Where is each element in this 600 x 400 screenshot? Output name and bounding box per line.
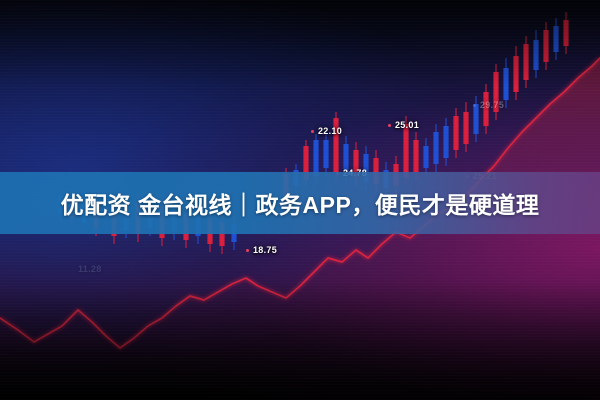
price-label: 25.01 xyxy=(388,120,419,130)
price-label-value: 11.28 xyxy=(78,264,102,274)
price-label: 18.75 xyxy=(246,245,277,255)
price-label: 22.10 xyxy=(311,126,342,136)
candle-body xyxy=(533,40,538,70)
price-marker-dot xyxy=(311,130,314,133)
candle-body xyxy=(413,140,418,172)
price-marker-dot xyxy=(473,104,476,107)
candle-body xyxy=(553,26,558,52)
candle-body xyxy=(443,126,448,158)
price-label-value: 25.01 xyxy=(395,120,419,130)
price-label: 29.75 xyxy=(473,100,504,110)
price-marker-dot xyxy=(246,249,249,252)
price-label-value: 22.10 xyxy=(318,126,342,136)
headline-banner: 优配资 金台视线｜政务APP，便民才是硬道理 xyxy=(0,172,600,234)
candle-body xyxy=(453,116,458,150)
price-marker-dot xyxy=(388,124,391,127)
candle-body xyxy=(503,68,508,100)
candle-body xyxy=(563,20,568,46)
banner-title: 优配资 金台视线｜政务APP，便民才是硬道理 xyxy=(61,186,540,220)
candle-body xyxy=(423,146,428,168)
candle-body xyxy=(323,140,328,168)
candle-body xyxy=(433,132,438,164)
candle-body xyxy=(403,124,408,178)
candle-body xyxy=(543,30,548,62)
candle-body xyxy=(313,140,318,176)
price-label-value: 18.75 xyxy=(253,245,277,255)
image-canvas: 22.1025.0124.7818.7529.7525.2111.28 优配资 … xyxy=(0,0,600,400)
price-label: 11.28 xyxy=(78,264,102,274)
price-label-value: 29.75 xyxy=(480,100,504,110)
candle-body xyxy=(463,112,468,144)
candle-body xyxy=(513,56,518,92)
candle-body xyxy=(523,44,528,80)
